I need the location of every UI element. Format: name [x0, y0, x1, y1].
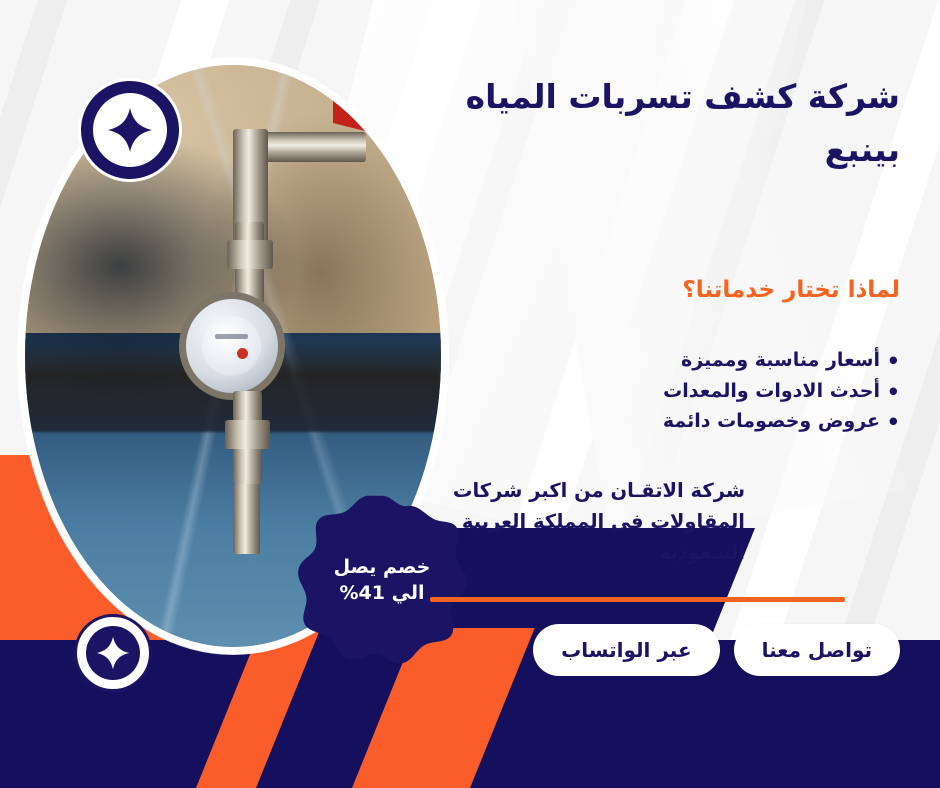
photo-meter-indicator	[237, 348, 248, 359]
list-item: أحدث الادوات والمعدات	[430, 376, 900, 407]
company-description: شركة الاتقـان من اكبر شركات المقاولات في…	[430, 475, 745, 569]
cta-button-row: تواصل معنا عبر الواتساب	[430, 624, 900, 676]
logo-mark-top[interactable]	[78, 78, 182, 182]
discount-badge-line1: خصم يصل	[334, 556, 431, 578]
logo-mark-bottom[interactable]	[74, 614, 152, 692]
photo-pipe-coupling-lower	[225, 420, 271, 449]
photo-pipe-coupling-upper	[227, 240, 273, 269]
logo-top-inner-circle	[93, 93, 167, 167]
photo-water-meter-dial	[179, 292, 285, 400]
whatsapp-button[interactable]: عبر الواتساب	[533, 624, 719, 676]
discount-badge-text: خصم يصل الي 41%	[324, 554, 440, 606]
four-point-sparkle-icon	[96, 636, 130, 670]
four-point-sparkle-icon	[107, 107, 153, 153]
list-item: عروض وخصومات دائمة	[430, 406, 900, 437]
poster-canvas: خصم يصل الي 41% شركة كشف تسربات المياه ب…	[0, 0, 940, 788]
discount-badge-line2: الي 41%	[340, 582, 425, 604]
orange-divider-rule	[430, 597, 845, 602]
logo-bottom-inner-circle	[86, 626, 140, 680]
section-subtitle: لماذا تختار خدماتنا؟	[430, 276, 900, 306]
photo-meter-face	[202, 316, 261, 376]
photo-meter-register	[215, 334, 248, 339]
list-item: أسعار مناسبة ومميزة	[430, 345, 900, 376]
benefits-list: أسعار مناسبة ومميزة أحدث الادوات والمعدا…	[430, 345, 900, 437]
content-column: شركة كشف تسربات المياه بينبع لماذا تختار…	[430, 70, 900, 676]
page-title: شركة كشف تسربات المياه بينبع	[430, 70, 900, 177]
photo-pipe-riser	[233, 484, 260, 554]
contact-us-button[interactable]: تواصل معنا	[734, 624, 900, 676]
